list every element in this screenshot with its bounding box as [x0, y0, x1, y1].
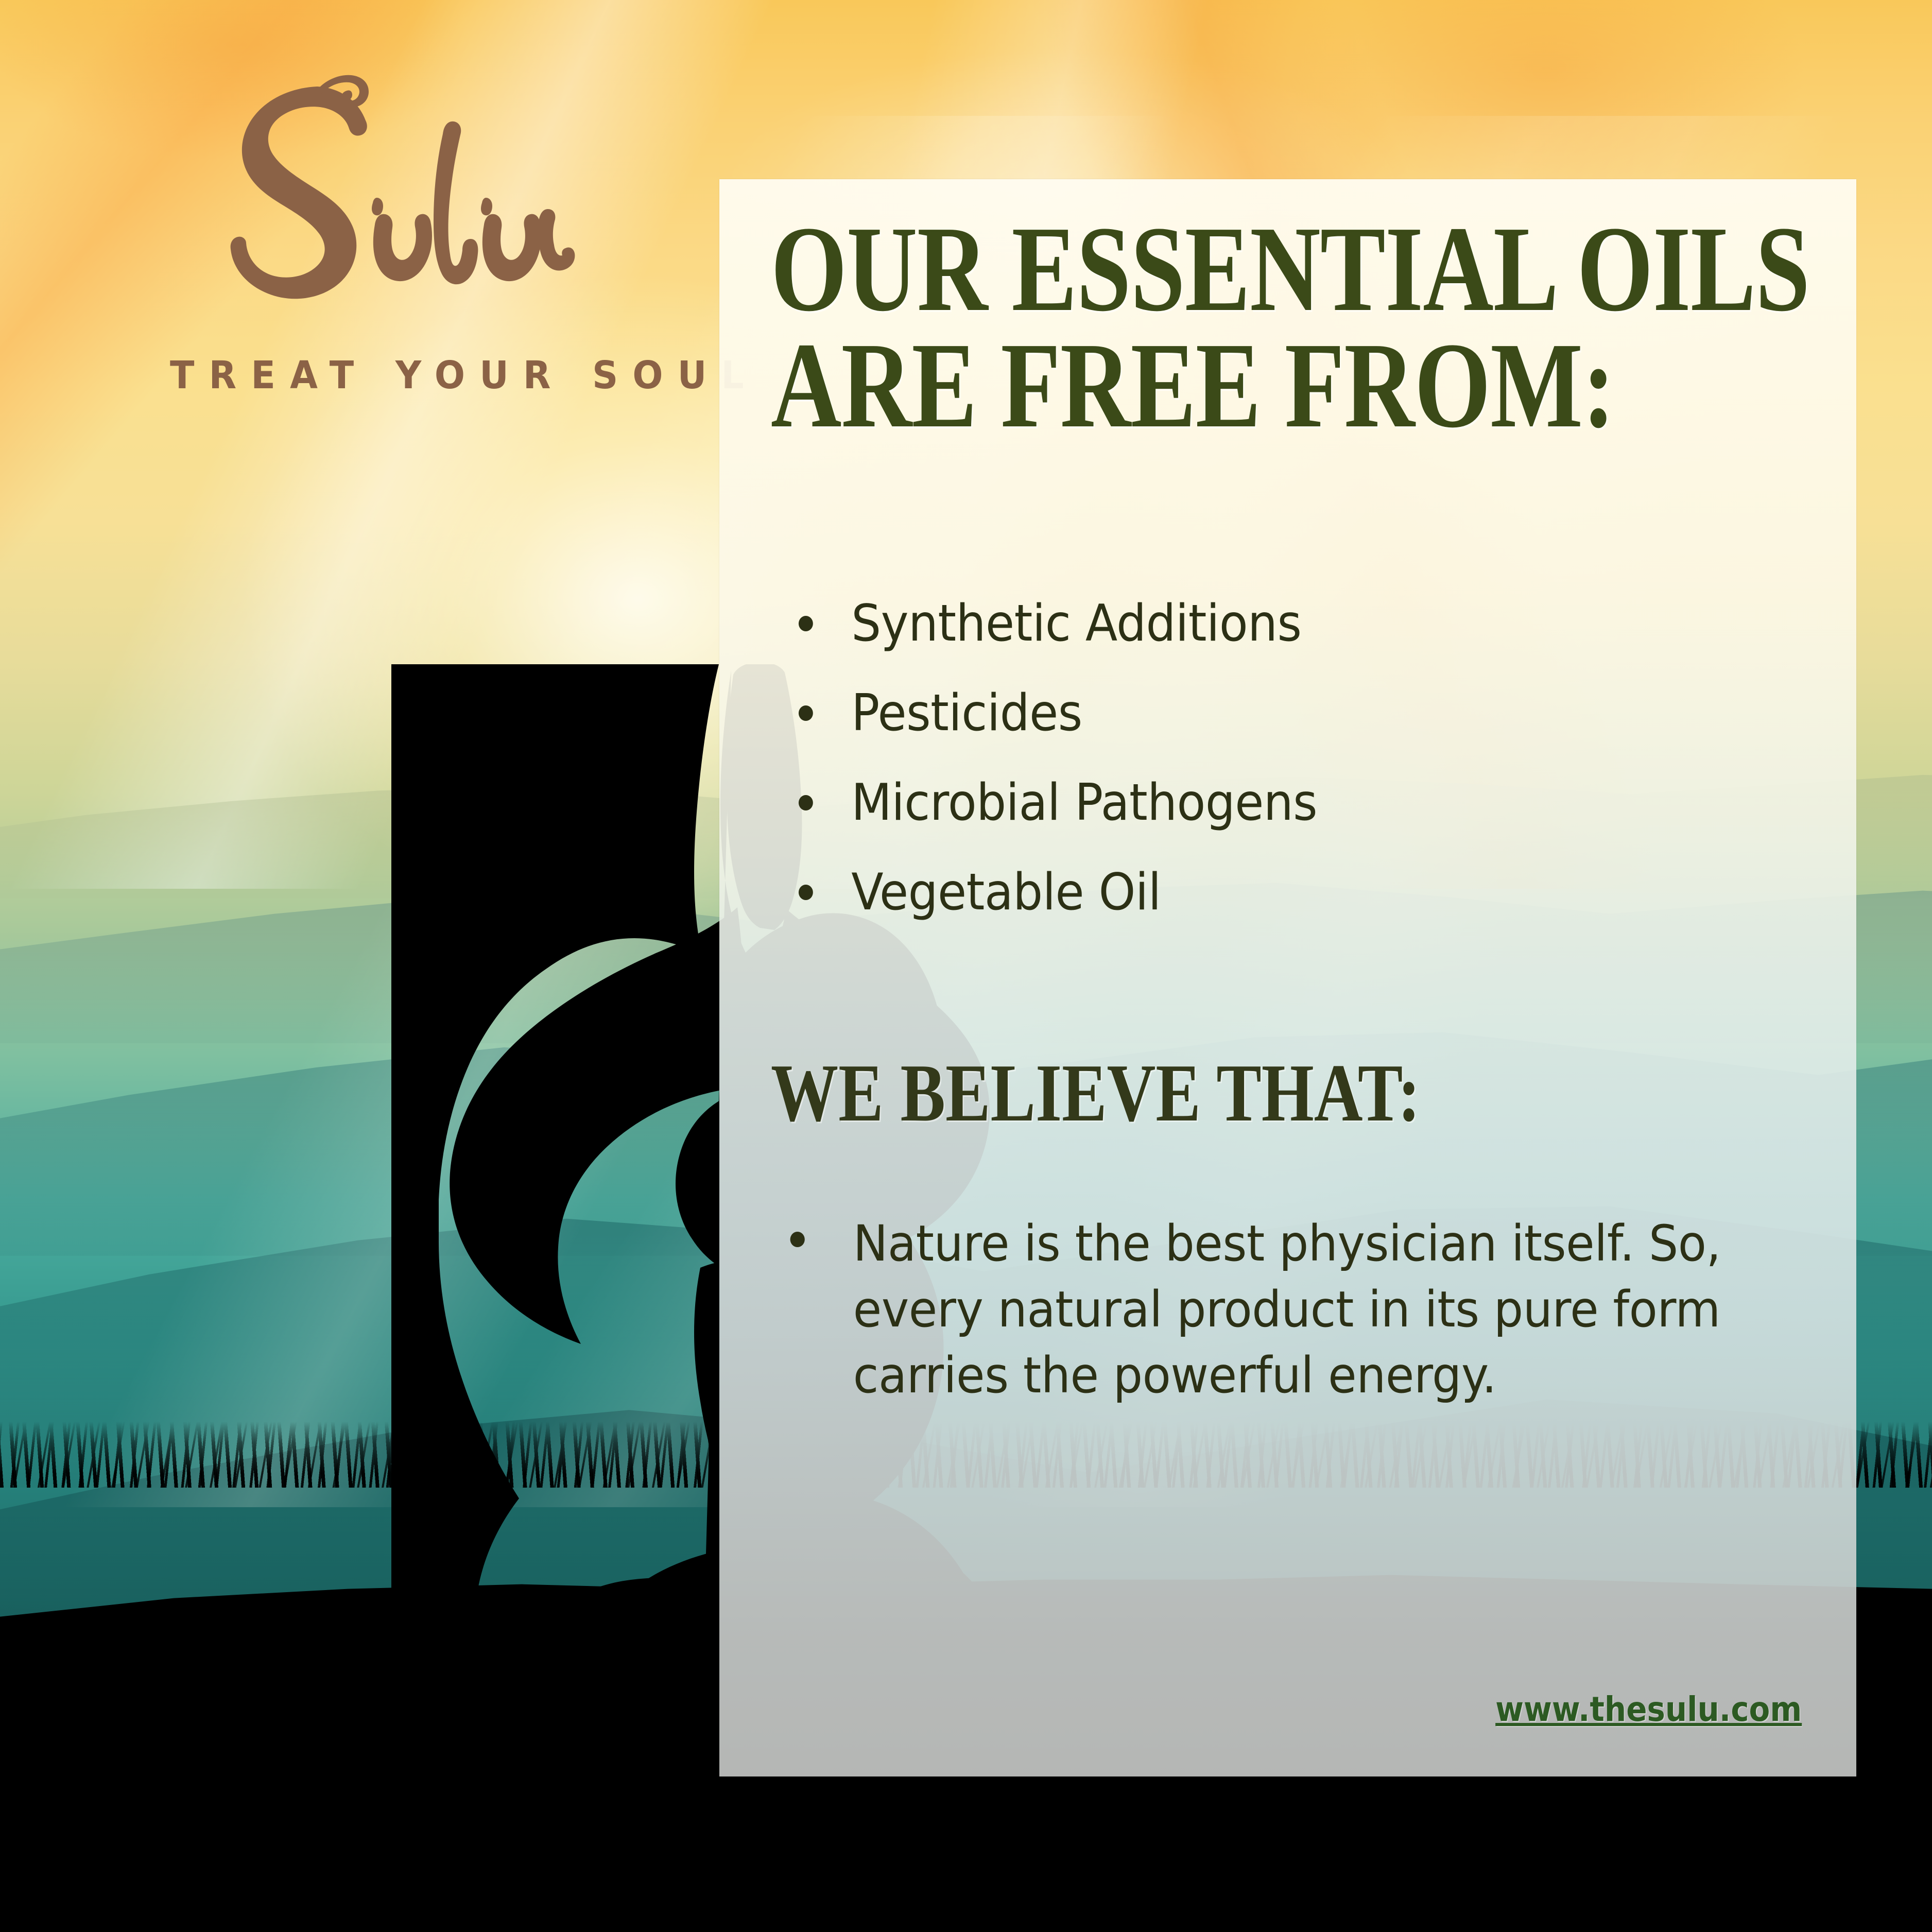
brand-lockup: TREAT YOUR SOUL — [154, 72, 669, 398]
website-link[interactable]: www.thesulu.com — [1495, 1689, 1802, 1729]
free-from-list: Synthetic Additions Pesticides Microbial… — [771, 598, 1812, 918]
section-heading-we-believe: WE BELIEVE THAT: — [771, 1051, 1813, 1134]
list-item: Pesticides — [771, 688, 1739, 738]
content-panel: OUR ESSENTIAL OILS ARE FREE FROM: Synthe… — [719, 179, 1856, 1776]
panel-inner: OUR ESSENTIAL OILS ARE FREE FROM: Synthe… — [719, 179, 1856, 1776]
page-title: OUR ESSENTIAL OILS ARE FREE FROM: — [771, 211, 1812, 444]
sulu-script-logotype-icon — [165, 72, 577, 330]
list-item: Nature is the best physician itself. So,… — [771, 1211, 1750, 1408]
list-item: Microbial Pathogens — [771, 778, 1739, 828]
list-item: Synthetic Additions — [771, 598, 1739, 649]
brand-tagline: TREAT YOUR SOUL — [170, 353, 640, 398]
list-item: Vegetable Oil — [771, 867, 1739, 918]
beliefs-list: Nature is the best physician itself. So,… — [771, 1211, 1812, 1408]
poster-canvas: TREAT YOUR SOUL OUR ESSENTIAL OILS ARE F… — [0, 0, 1932, 1932]
